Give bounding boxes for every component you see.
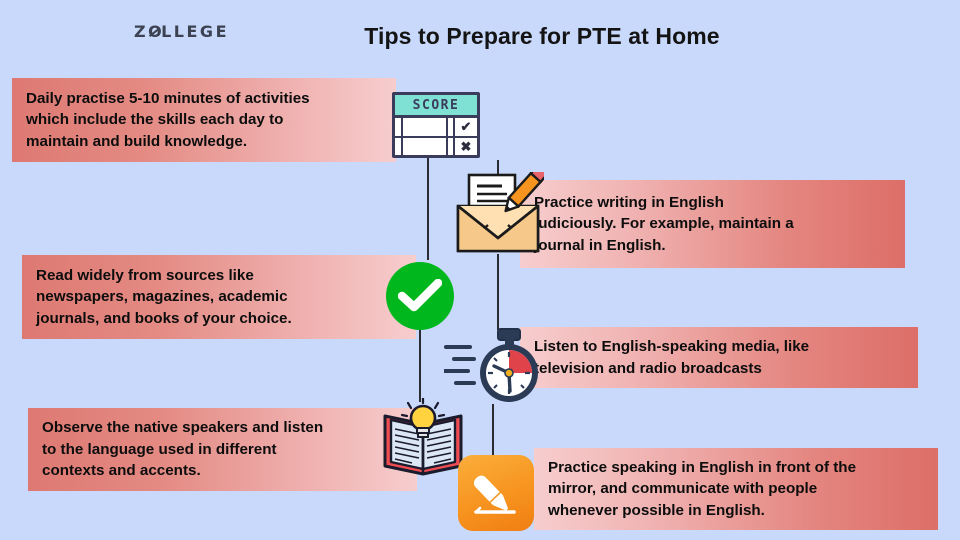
tip-1-text: Daily practise 5-10 minutes of activitie… xyxy=(26,88,310,153)
pen-tile-graphic xyxy=(458,455,534,531)
tip-3-line-2: newspapers, magazines, academic xyxy=(36,286,292,308)
tip-5-text: Observe the native speakers and listen t… xyxy=(42,417,323,482)
tip-box-3: Read widely from sources like newspapers… xyxy=(22,255,416,339)
tip-2-line-1: Practice writing in English xyxy=(534,192,794,214)
scorecard-label: SCORE xyxy=(395,95,477,118)
tip-3-text: Read widely from sources like newspapers… xyxy=(36,265,292,330)
tip-5-line-1: Observe the native speakers and listen xyxy=(42,417,323,439)
tip-2-line-2: judiciously. For example, maintain a xyxy=(534,213,794,235)
tip-2-line-3: journal in English. xyxy=(534,235,794,257)
envelope-pencil-icon xyxy=(452,172,544,256)
connector-line-upper-left xyxy=(427,158,429,260)
check-mark-svg xyxy=(398,279,442,313)
page-title: Tips to Prepare for PTE at Home xyxy=(0,23,960,50)
pen-tile-icon xyxy=(458,455,534,531)
tip-2-text: Practice writing in English judiciously.… xyxy=(534,192,794,257)
tip-3-line-1: Read widely from sources like xyxy=(36,265,292,287)
scorecard-graphic: SCORE ✔ ✖ xyxy=(392,92,480,158)
connector-line-envelope-down xyxy=(497,254,499,330)
tip-box-4: Listen to English-speaking media, like t… xyxy=(520,327,918,388)
tip-box-1: Daily practise 5-10 minutes of activitie… xyxy=(12,78,396,162)
tip-1-line-3: maintain and build knowledge. xyxy=(26,131,310,153)
scorecard-cell-c2 xyxy=(448,138,455,156)
book-lightbulb-svg xyxy=(382,398,464,476)
tip-5-line-3: contexts and accents. xyxy=(42,460,323,482)
stopwatch-svg xyxy=(444,328,542,406)
pen-svg xyxy=(468,465,524,521)
tip-6-line-3: whenever possible in English. xyxy=(548,500,856,522)
scorecard-body: ✔ ✖ xyxy=(395,118,477,155)
connector-line-stopwatch-down xyxy=(492,404,494,456)
stopwatch-icon xyxy=(444,328,542,406)
green-check-icon xyxy=(386,262,454,330)
tip-box-2: Practice writing in English judiciously.… xyxy=(520,180,905,268)
tip-6-line-1: Practice speaking in English in front of… xyxy=(548,457,856,479)
scorecard-check-icon: ✔ xyxy=(455,118,477,136)
scorecard-cell-c1 xyxy=(448,118,455,136)
scorecard-row-2: ✖ xyxy=(395,138,477,156)
scorecard-icon: SCORE ✔ ✖ xyxy=(392,92,480,158)
tip-box-5: Observe the native speakers and listen t… xyxy=(28,408,417,491)
infographic-canvas: ZOLLEGE Tips to Prepare for PTE at Home … xyxy=(0,0,960,540)
book-lightbulb-icon xyxy=(382,398,464,476)
tip-5-line-2: to the language used in different xyxy=(42,439,323,461)
scorecard-cross-icon: ✖ xyxy=(455,138,477,156)
tip-4-text: Listen to English-speaking media, like t… xyxy=(534,336,809,379)
scorecard-cell-b2 xyxy=(403,138,448,156)
connector-line-check-down xyxy=(419,330,421,402)
green-check-circle xyxy=(386,262,454,330)
tip-1-line-1: Daily practise 5-10 minutes of activitie… xyxy=(26,88,310,110)
scorecard-cell-a2 xyxy=(395,138,403,156)
tip-box-6: Practice speaking in English in front of… xyxy=(534,448,938,530)
envelope-pencil-svg xyxy=(452,172,544,256)
tip-4-line-1: Listen to English-speaking media, like xyxy=(534,336,809,358)
scorecard-cell-b1 xyxy=(403,118,448,136)
scorecard-row-1: ✔ xyxy=(395,118,477,138)
tip-4-line-2: television and radio broadcasts xyxy=(534,358,809,380)
tip-3-line-3: journals, and books of your choice. xyxy=(36,308,292,330)
tip-6-line-2: mirror, and communicate with people xyxy=(548,478,856,500)
scorecard-cell-a1 xyxy=(395,118,403,136)
tip-1-line-2: which include the skills each day to xyxy=(26,109,310,131)
tip-6-text: Practice speaking in English in front of… xyxy=(548,457,856,522)
